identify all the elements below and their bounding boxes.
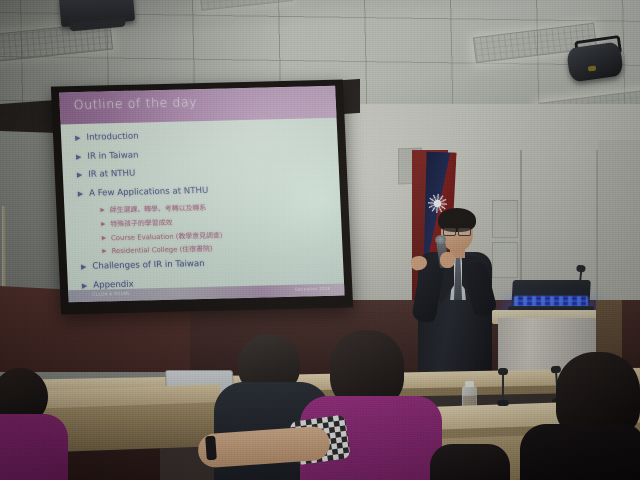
bullet-label: A Few Applications at NTHU [89,187,209,198]
slide-bullet: ▶IR at NTHU [77,165,327,180]
projection-screen[interactable]: Outline of the day ▶Introduction ▶IR in … [51,80,353,315]
bullet-marker-icon: ▶ [78,190,84,199]
slide-subbullet: ▶特殊孩子的學習成效 [101,216,329,229]
attendee-body [520,424,640,480]
presentation-slide: Outline of the day ▶Introduction ▶IR in … [59,86,345,303]
slide-footer-right: December 2018 [295,286,330,292]
subbullet-label: 特殊孩子的學習成效 [110,220,172,228]
slide-bullet: ▶A Few Applications at NTHU [78,184,328,199]
slide-bullet: ▶Introduction [75,128,325,143]
slide-bullet: ▶IR in Taiwan [76,147,326,162]
wall-panel [492,242,518,278]
bullet-marker-icon: ▶ [81,263,87,272]
attendee-body [430,444,510,480]
flag-sun-emblem-icon [430,196,445,211]
wristwatch-icon [205,436,217,461]
bullet-marker-icon: ▶ [75,134,81,143]
subbullet-marker-icon: ▶ [102,249,107,256]
bullet-label: IR at NTHU [88,170,135,180]
bullet-marker-icon: ▶ [77,171,83,180]
slide-subbullet-group: ▶師生選課、轉學、考轉以及轉系 ▶特殊孩子的學習成效 ▶Course Evalu… [100,202,330,256]
bullet-label: Challenges of IR in Taiwan [92,260,205,271]
slide-bullet: ▶Challenges of IR in Taiwan [81,257,331,272]
subbullet-label: Course Evaluation (教學意見調查) [111,232,223,242]
left-wall-panel [0,131,62,297]
subbullet-marker-icon: ▶ [102,235,107,242]
lecture-hall-photo: Outline of the day ▶Introduction ▶IR in … [0,0,640,480]
slide-subbullet: ▶師生選課、轉學、考轉以及轉系 [100,202,328,215]
slide-subbullet: ▶Course Evaluation (教學意見調查) [102,230,330,243]
attendee-body [0,414,68,480]
subbullet-label: 師生選課、轉學、考轉以及轉系 [110,205,207,214]
bullet-label: Introduction [86,133,138,143]
wall-panel [492,200,518,238]
eyeglasses-icon [443,228,471,234]
bullet-marker-icon: ▶ [76,153,82,162]
slide-bullet-list: ▶Introduction ▶IR in Taiwan ▶IR at NTHU … [75,128,333,302]
slide-subbullet: ▶Residential College (住宿書院) [102,243,330,256]
subbullet-marker-icon: ▶ [100,208,105,215]
subbullet-marker-icon: ▶ [101,221,106,228]
desk-gooseneck-microphone-icon [502,372,504,402]
bullet-label: IR in Taiwan [87,151,138,161]
presenter-hand [440,252,455,268]
slide-title: Outline of the day [73,94,197,112]
slide-footer-left: CLLDA & SCLML [92,291,130,297]
subbullet-label: Residential College (住宿書院) [111,246,212,255]
projector-icon [59,0,135,27]
